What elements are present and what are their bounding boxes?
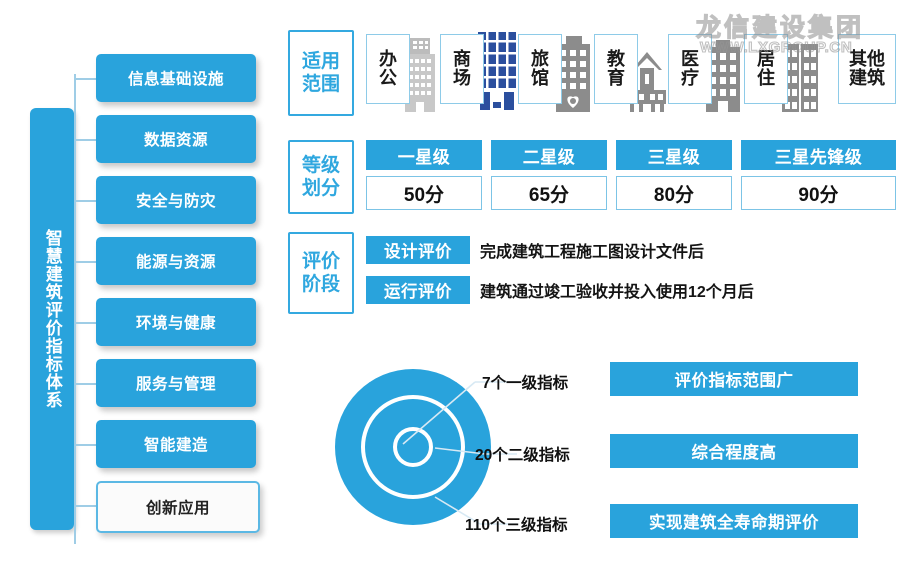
scope-chip-line-2: 住: [757, 69, 775, 88]
scope-chip-mall[interactable]: 商 场: [440, 34, 484, 104]
scope-chip-line-1: 其他: [849, 50, 885, 69]
grade-column-two-star[interactable]: 二星级 65分: [491, 140, 607, 210]
system-node-intelligent-construction[interactable]: 智能建造: [96, 420, 256, 468]
node-label: 数据资源: [144, 128, 208, 150]
grade-division-row: 一星级 50分 二星级 65分 三星级 80分 三星先锋级 90分: [366, 140, 896, 212]
system-node-service-and-management[interactable]: 服务与管理: [96, 359, 256, 407]
node-label: 智能建造: [144, 433, 208, 455]
scope-chip-office[interactable]: 办 公: [366, 34, 410, 104]
system-node-information-infrastructure[interactable]: 信息基础设施: [96, 54, 256, 102]
grade-score: 90分: [741, 176, 896, 210]
highlight-text: 实现建筑全寿命期评价: [649, 509, 819, 533]
system-bracket: [74, 74, 98, 544]
system-node-energy-and-resources[interactable]: 能源与资源: [96, 237, 256, 285]
stage-description: 建筑通过竣工验收并投入使用12个月后: [480, 278, 754, 302]
grade-name: 一星级: [366, 140, 482, 170]
stage-tag: 设计评价: [366, 236, 470, 264]
highlight-pill-broad-scope[interactable]: 评价指标范围广: [610, 362, 858, 396]
scope-chip-line-1: 医: [681, 50, 699, 69]
bracket-tick: [74, 322, 96, 324]
indicator-rings-section: 7个一级指标 20个二级指标 110个三级指标 评价指标范围广 综合程度高 实现…: [325, 352, 899, 542]
bracket-tick: [74, 139, 96, 141]
system-spine-label: 智慧建筑评价指标体系: [38, 229, 66, 409]
bracket-tick: [74, 78, 96, 80]
ring-outer[interactable]: [335, 369, 491, 525]
scope-item-office[interactable]: 办 公: [366, 30, 440, 112]
scope-item-other[interactable]: 其他 建筑: [820, 30, 896, 112]
indicator-label-level-1: 7个一级指标: [482, 371, 568, 393]
node-label: 创新应用: [146, 496, 210, 518]
node-label: 服务与管理: [136, 372, 216, 394]
evaluation-index-system: 智慧建筑评价指标体系 信息基础设施 数据资源 安全与防灾 能源与资源 环境与健康…: [0, 22, 280, 542]
indicator-label-text: 110个三级指标: [465, 517, 568, 534]
grade-name: 二星级: [491, 140, 607, 170]
stage-row-operation[interactable]: 运行评价 建筑通过竣工验收并投入使用12个月后: [366, 276, 754, 304]
grade-column-one-star[interactable]: 一星级 50分: [366, 140, 482, 210]
scope-item-hotel[interactable]: 旅 馆: [518, 30, 594, 112]
indicator-label-text: 20个二级指标: [475, 447, 570, 464]
scope-chip-line-1: 居: [757, 50, 775, 69]
scope-chip-line-1: 旅: [531, 50, 549, 69]
scope-item-residential[interactable]: 居 住: [744, 30, 820, 112]
highlight-text: 综合程度高: [692, 439, 777, 463]
stage-section-label: 评价 阶段: [288, 232, 354, 314]
grade-label-line-2: 划分: [302, 177, 340, 200]
scope-chip-line-2: 疗: [681, 69, 699, 88]
scope-label-line-2: 范围: [302, 73, 340, 96]
grade-name: 三星级: [616, 140, 732, 170]
indicator-label-level-2: 20个二级指标: [475, 443, 570, 465]
scope-item-medical[interactable]: 医 疗: [668, 30, 744, 112]
scope-chip-residential[interactable]: 居 住: [744, 34, 788, 104]
evaluation-stage-row: 设计评价 完成建筑工程施工图设计文件后 运行评价 建筑通过竣工验收并投入使用12…: [366, 232, 896, 310]
scope-chip-line-1: 商: [453, 50, 471, 69]
system-spine: 智慧建筑评价指标体系: [30, 108, 74, 530]
indicator-label-text: 7个一级指标: [482, 375, 568, 392]
grade-score: 50分: [366, 176, 482, 210]
highlight-pill-high-comprehensive[interactable]: 综合程度高: [610, 434, 858, 468]
stage-label-line-1: 评价: [302, 250, 340, 273]
scope-chip-line-1: 教: [607, 50, 625, 69]
scope-chip-education[interactable]: 教 育: [594, 34, 638, 104]
stage-row-design[interactable]: 设计评价 完成建筑工程施工图设计文件后: [366, 236, 704, 264]
stage-tag: 运行评价: [366, 276, 470, 304]
highlight-pill-lifecycle[interactable]: 实现建筑全寿命期评价: [610, 504, 858, 538]
system-node-environment-and-health[interactable]: 环境与健康: [96, 298, 256, 346]
bracket-tick: [74, 261, 96, 263]
bracket-tick: [74, 505, 96, 507]
scope-chip-other[interactable]: 其他 建筑: [838, 34, 896, 104]
grade-label-line-1: 等级: [302, 154, 340, 177]
applicable-scope-row: 办 公 商 场 旅 馆: [366, 30, 896, 112]
grade-name: 三星先锋级: [741, 140, 896, 170]
scope-label-line-1: 适用: [302, 50, 340, 73]
indicator-label-level-3: 110个三级指标: [465, 513, 568, 535]
node-label: 环境与健康: [136, 311, 216, 333]
grade-score: 80分: [616, 176, 732, 210]
grade-column-three-star[interactable]: 三星级 80分: [616, 140, 732, 210]
bracket-tick: [74, 200, 96, 202]
scope-chip-hotel[interactable]: 旅 馆: [518, 34, 562, 104]
system-node-safety-and-disaster[interactable]: 安全与防灾: [96, 176, 256, 224]
stage-label-line-2: 阶段: [302, 273, 340, 296]
scope-chip-line-1: 办: [379, 50, 397, 69]
scope-chip-medical[interactable]: 医 疗: [668, 34, 712, 104]
highlight-text: 评价指标范围广: [675, 367, 794, 391]
stage-description: 完成建筑工程施工图设计文件后: [480, 238, 704, 262]
node-label: 安全与防灾: [136, 189, 216, 211]
bracket-tick: [74, 383, 96, 385]
scope-section-label: 适用 范围: [288, 30, 354, 116]
scope-chip-line-2: 馆: [531, 69, 549, 88]
scope-chip-line-2: 建筑: [849, 69, 885, 88]
scope-chip-line-2: 育: [607, 69, 625, 88]
grade-section-label: 等级 划分: [288, 140, 354, 214]
node-label: 信息基础设施: [128, 67, 224, 89]
node-label: 能源与资源: [136, 250, 216, 272]
bracket-tick: [74, 444, 96, 446]
scope-chip-line-2: 场: [453, 69, 471, 88]
scope-chip-line-2: 公: [379, 69, 397, 88]
scope-item-education[interactable]: 教 育: [594, 30, 668, 112]
grade-score: 65分: [491, 176, 607, 210]
system-node-data-resources[interactable]: 数据资源: [96, 115, 256, 163]
scope-item-mall[interactable]: 商 场: [440, 30, 518, 112]
grade-column-three-star-pioneer[interactable]: 三星先锋级 90分: [741, 140, 896, 210]
system-node-innovative-application[interactable]: 创新应用: [96, 481, 260, 533]
